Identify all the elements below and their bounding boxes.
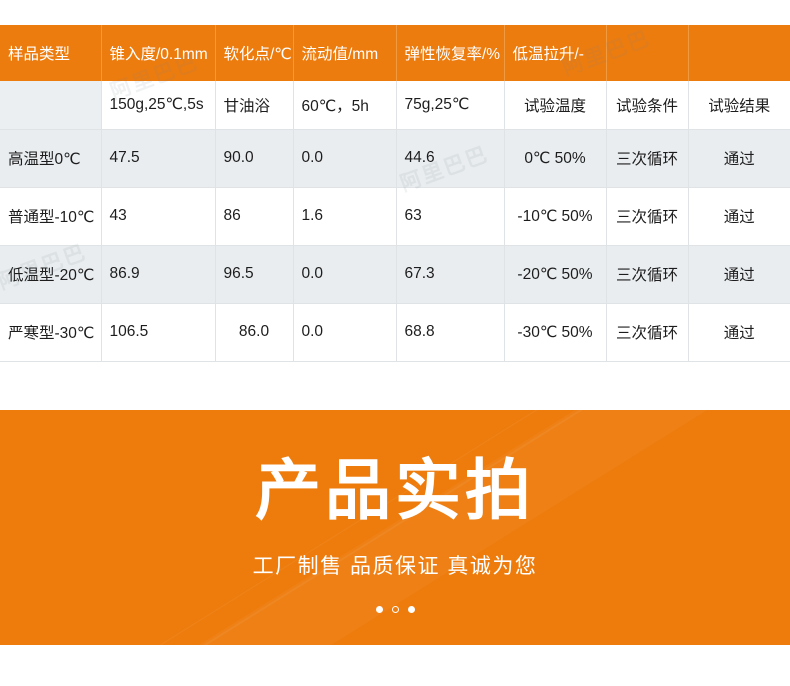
carousel-dot-2[interactable] — [392, 606, 399, 613]
cell-elastic-recovery: 44.6 — [396, 129, 504, 187]
table-header-row: 样品类型 锥入度/0.1mm 软化点/℃ 流动值/mm 弹性恢复率/% 低温拉升… — [0, 25, 790, 81]
cell-sample-type: 高温型0℃ — [0, 129, 101, 187]
specification-table-section: 阿里巴巴 阿里巴巴 阿里巴巴 阿里巴巴 样品类型 锥入度/0.1mm 软化点/℃… — [0, 25, 790, 362]
table-row: 高温型0℃ 47.5 90.0 0.0 44.6 0℃ 50% 三次循环 通过 — [0, 129, 790, 187]
column-header-sample-type: 样品类型 — [0, 25, 101, 81]
cell-elastic-recovery: 68.8 — [396, 303, 504, 361]
cell-test-condition: 三次循环 — [606, 187, 688, 245]
cell-flow-value: 0.0 — [293, 303, 396, 361]
column-header-flow-value: 流动值/mm — [293, 25, 396, 81]
cell-test-condition: 三次循环 — [606, 245, 688, 303]
carousel-dot-1[interactable] — [376, 606, 383, 613]
column-header-empty-2 — [688, 25, 790, 81]
cell-flow-value: 1.6 — [293, 187, 396, 245]
table-row: 低温型-20℃ 86.9 96.5 0.0 67.3 -20℃ 50% 三次循环… — [0, 245, 790, 303]
cell-softening-point: 86 — [215, 187, 293, 245]
cell-elastic-recovery: 67.3 — [396, 245, 504, 303]
cell-flow-value: 0.0 — [293, 129, 396, 187]
cell-test-result: 通过 — [688, 245, 790, 303]
cell-sample-type: 普通型-10℃ — [0, 187, 101, 245]
subheader-cell-penetration: 150g,25℃,5s — [101, 81, 215, 129]
carousel-dots[interactable] — [376, 606, 415, 613]
cell-test-result: 通过 — [688, 303, 790, 361]
cell-test-result: 通过 — [688, 187, 790, 245]
subheader-cell-test-result: 试验结果 — [688, 81, 790, 129]
cell-sample-type: 严寒型-30℃ — [0, 303, 101, 361]
cell-test-temperature: 0℃ 50% — [504, 129, 606, 187]
product-photo-banner: 产品实拍 工厂制售 品质保证 真诚为您 — [0, 410, 790, 645]
cell-penetration: 106.5 — [101, 303, 215, 361]
cell-flow-value: 0.0 — [293, 245, 396, 303]
cell-test-condition: 三次循环 — [606, 129, 688, 187]
column-header-softening-point: 软化点/℃ — [215, 25, 293, 81]
column-header-elastic-recovery: 弹性恢复率/% — [396, 25, 504, 81]
subheader-cell-elastic: 75g,25℃ — [396, 81, 504, 129]
column-header-low-temp-stretch: 低温拉升/- — [504, 25, 606, 81]
banner-subtitle: 工厂制售 品质保证 真诚为您 — [253, 550, 538, 580]
table-subheader-row: 150g,25℃,5s 甘油浴 60℃，5h 75g,25℃ 试验温度 试验条件… — [0, 81, 790, 129]
banner-title: 产品实拍 — [255, 458, 535, 524]
specification-table: 样品类型 锥入度/0.1mm 软化点/℃ 流动值/mm 弹性恢复率/% 低温拉升… — [0, 25, 790, 362]
subheader-cell-softening: 甘油浴 — [215, 81, 293, 129]
subheader-cell-blank — [0, 81, 101, 129]
cell-softening-point: 90.0 — [215, 129, 293, 187]
subheader-cell-test-temperature: 试验温度 — [504, 81, 606, 129]
cell-test-temperature: -20℃ 50% — [504, 245, 606, 303]
column-header-penetration: 锥入度/0.1mm — [101, 25, 215, 81]
cell-test-condition: 三次循环 — [606, 303, 688, 361]
cell-softening-point: 96.5 — [215, 245, 293, 303]
product-detail-page: 阿里巴巴 阿里巴巴 阿里巴巴 阿里巴巴 样品类型 锥入度/0.1mm 软化点/℃… — [0, 0, 790, 686]
cell-test-temperature: -30℃ 50% — [504, 303, 606, 361]
subheader-cell-flow: 60℃，5h — [293, 81, 396, 129]
cell-penetration: 47.5 — [101, 129, 215, 187]
cell-test-temperature: -10℃ 50% — [504, 187, 606, 245]
cell-softening-point: 86.0 — [215, 303, 293, 361]
table-row: 严寒型-30℃ 106.5 86.0 0.0 68.8 -30℃ 50% 三次循… — [0, 303, 790, 361]
cell-test-result: 通过 — [688, 129, 790, 187]
cell-penetration: 86.9 — [101, 245, 215, 303]
table-row: 普通型-10℃ 43 86 1.6 63 -10℃ 50% 三次循环 通过 — [0, 187, 790, 245]
carousel-dot-3[interactable] — [408, 606, 415, 613]
cell-elastic-recovery: 63 — [396, 187, 504, 245]
cell-sample-type: 低温型-20℃ — [0, 245, 101, 303]
subheader-cell-test-condition: 试验条件 — [606, 81, 688, 129]
column-header-empty-1 — [606, 25, 688, 81]
cell-penetration: 43 — [101, 187, 215, 245]
